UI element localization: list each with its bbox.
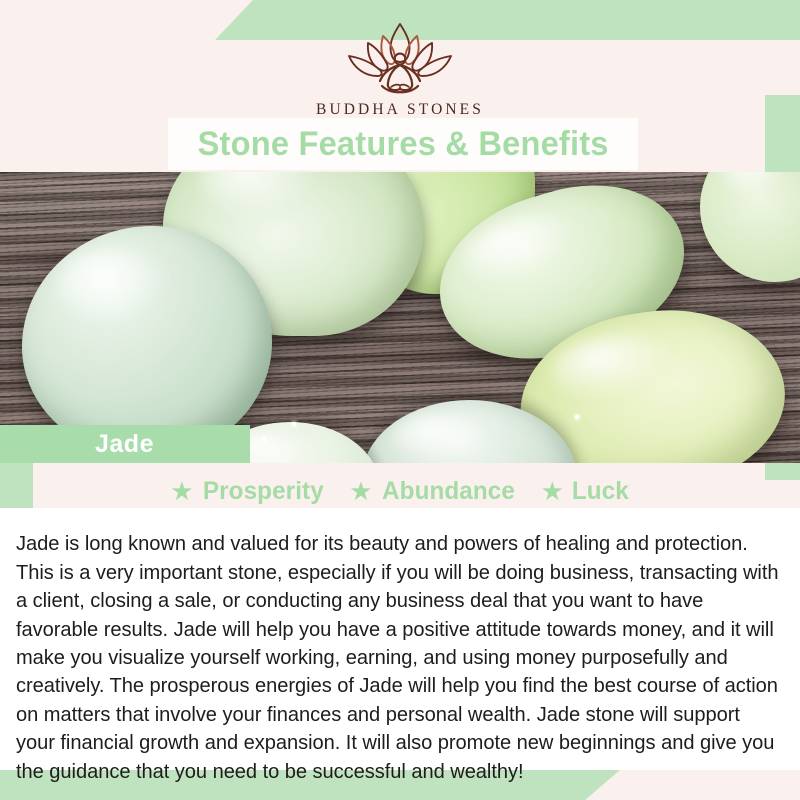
stone-name-badge: Jade — [0, 425, 250, 463]
brand-logo: BUDDHA STONES — [0, 18, 800, 119]
benefit-label: Prosperity — [202, 477, 323, 506]
title-banner: Stone Features & Benefits — [168, 118, 638, 170]
stone-name-label: Jade — [95, 430, 154, 459]
benefit-keywords: ★ Prosperity ★ Abundance ★ Luck — [0, 474, 800, 508]
benefit-item-abundance: ★ Abundance — [349, 477, 516, 506]
product-photo — [0, 172, 800, 463]
sparkle-highlight — [575, 415, 579, 419]
page-title: Stone Features & Benefits — [197, 125, 608, 164]
star-icon: ★ — [170, 478, 193, 504]
benefit-item-prosperity: ★ Prosperity — [170, 477, 325, 506]
benefit-item-luck: ★ Luck — [541, 477, 630, 506]
star-icon: ★ — [541, 478, 564, 504]
brand-name: BUDDHA STONES — [316, 101, 484, 119]
benefit-label: Abundance — [382, 477, 515, 506]
star-icon: ★ — [349, 478, 372, 504]
benefit-label: Luck — [572, 477, 629, 506]
lotus-meditation-icon — [325, 18, 475, 96]
jade-stone — [22, 226, 272, 458]
sparkle-highlight — [292, 422, 296, 426]
description-panel: Jade is long known and valued for its be… — [0, 508, 800, 770]
sparkle-highlight — [262, 437, 266, 441]
description-text: Jade is long known and valued for its be… — [16, 530, 782, 786]
infographic-card: BUDDHA STONES Stone Features & Benefits … — [0, 0, 800, 800]
